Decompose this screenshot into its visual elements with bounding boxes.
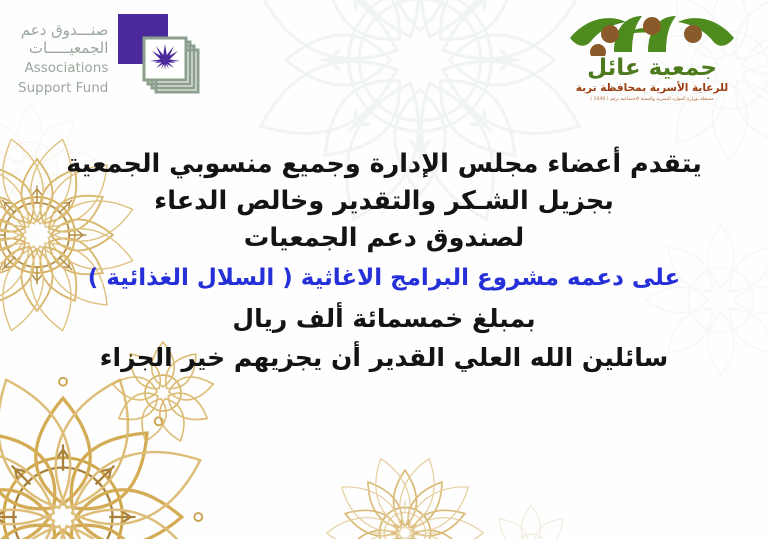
asf-arabic-line-2: الجمعيـــــات — [29, 40, 109, 58]
certificate-canvas: صنـــدوق دعم الجمعيـــــات Associations … — [0, 0, 768, 539]
mandala-left-main-icon — [0, 352, 228, 539]
aael-registration-note: مسجلة بوزارة الموارد البشرية والتنمية ال… — [552, 97, 752, 102]
associations-support-fund-logo: صنـــدوق دعم الجمعيـــــات Associations … — [18, 12, 202, 97]
aael-association-logo: جمعية عائل للرعاية الأسرية بمحافظة تربة … — [552, 8, 752, 112]
body-line-6-prayer: سائلين الله العلي القدير أن يجزيهم خير ا… — [0, 342, 768, 375]
body-line-3-recipient: لصندوق دعم الجمعيات — [0, 222, 768, 255]
body-line-2: بجزيل الشـكر والتقدير وخالص الدعاء — [0, 185, 768, 218]
asf-english-line-2: Support Fund — [18, 80, 108, 97]
body-line-4-project: على دعمه مشروع البرامج الاغاثية ( السلال… — [0, 264, 768, 294]
aael-figures-icon — [552, 8, 752, 56]
asf-english-line-1: Associations — [24, 60, 108, 77]
asf-arabic-line-1: صنـــدوق دعم — [21, 22, 109, 40]
body-line-5-amount: بمبلغ خمسمائة ألف ريال — [0, 303, 768, 336]
associations-support-fund-mark-icon — [118, 12, 202, 96]
mandala-center-bottom-faint-icon — [466, 486, 596, 539]
aael-subtitle: للرعاية الأسرية بمحافظة تربة — [552, 83, 752, 95]
aael-title: جمعية عائل — [552, 57, 752, 80]
mandala-center-bottom-icon — [320, 448, 490, 539]
certificate-body: يتقدم أعضاء مجلس الإدارة وجميع منسوبي ال… — [0, 148, 768, 374]
certificate-header: صنـــدوق دعم الجمعيـــــات Associations … — [0, 0, 768, 118]
body-line-1: يتقدم أعضاء مجلس الإدارة وجميع منسوبي ال… — [0, 148, 768, 181]
associations-support-fund-wordmark: صنـــدوق دعم الجمعيـــــات Associations … — [18, 12, 108, 97]
